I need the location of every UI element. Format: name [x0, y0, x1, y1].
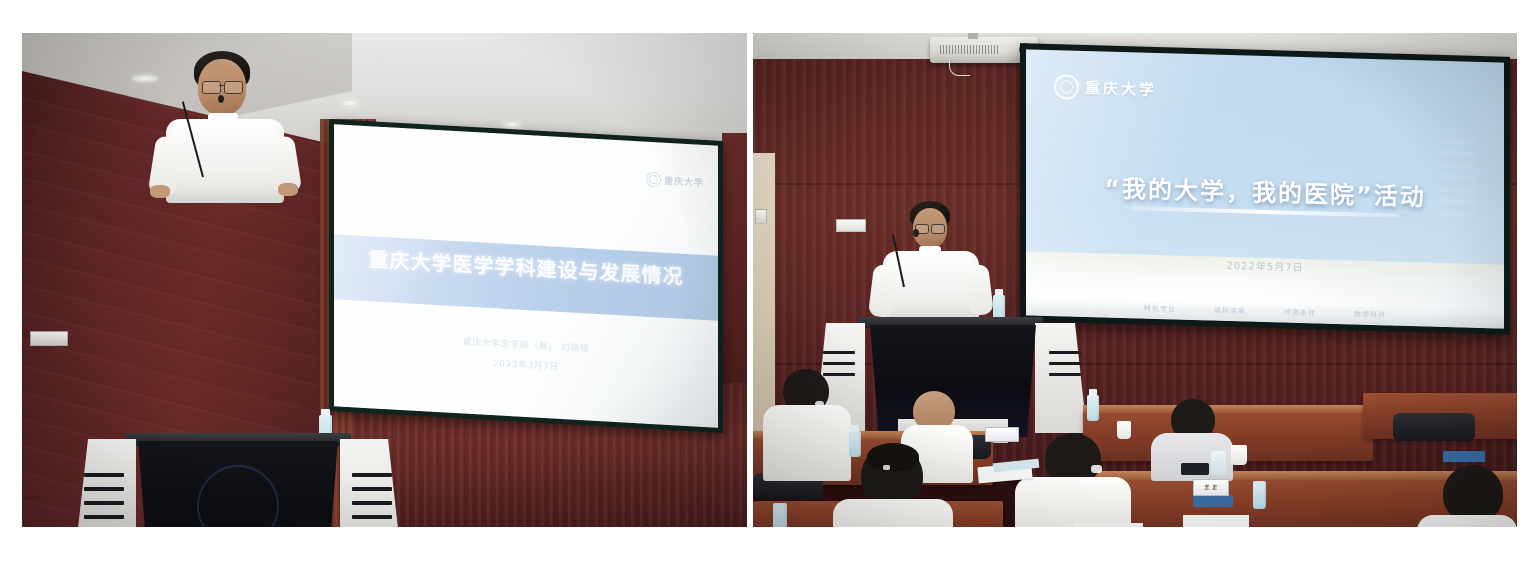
downlight-icon	[132, 75, 158, 82]
bottle-cap	[851, 425, 859, 432]
water-bottle	[1087, 395, 1099, 421]
speaker-hand-right	[278, 183, 298, 196]
wall-sign-plate	[30, 331, 68, 346]
projection-screen-frame: 重庆大学 “我的大学，我的医院”活动 2022年5月7日 特色专业 高标准高 师…	[1020, 43, 1510, 335]
face-mask-icon	[1091, 465, 1102, 473]
photo-left: 重庆大学 重庆大学医学学科建设与发展情况 重庆大学医学院（筹） 刘晓程 2023…	[22, 33, 747, 527]
podium-vent	[84, 473, 124, 477]
university-logo: 重庆大学	[1054, 74, 1157, 102]
slide-footer-item: 教学科研	[1354, 309, 1386, 320]
podium-vent	[352, 501, 392, 505]
eyeglasses-icon	[224, 81, 243, 94]
podium-vent	[352, 515, 392, 519]
slide-footer-item: 师资条件	[1284, 308, 1316, 319]
photo-collage: 重庆大学 重庆大学医学学科建设与发展情况 重庆大学医学院（筹） 刘晓程 2023…	[0, 0, 1539, 570]
podium-vent	[823, 373, 855, 376]
podium-vent	[84, 515, 124, 519]
audience-torso	[833, 499, 953, 527]
wall-switch-plate	[755, 209, 767, 224]
water-bottle	[849, 431, 861, 457]
wall-sign-plate	[836, 219, 866, 232]
university-logo: 重庆大学	[646, 172, 704, 190]
university-name: 重庆大学	[1085, 77, 1157, 100]
name-placard: 王 正	[1193, 479, 1229, 496]
folder	[1443, 451, 1485, 462]
speaker-torso	[166, 119, 284, 203]
podium-vent	[823, 351, 855, 354]
face-mask-icon	[815, 401, 824, 407]
bottle-cap	[995, 289, 1003, 296]
eyeglasses-icon	[202, 81, 221, 94]
photo-right: 重庆大学 “我的大学，我的医院”活动 2022年5月7日 特色专业 高标准高 师…	[753, 33, 1517, 527]
smartphone	[1181, 463, 1209, 475]
slide-footer-item: 特色专业	[1144, 304, 1176, 315]
audience-torso	[1417, 515, 1517, 527]
podium-vent	[823, 362, 855, 365]
eyeglasses-icon	[931, 224, 945, 234]
eyeglasses-bridge	[219, 85, 224, 86]
water-bottle	[773, 503, 787, 527]
slide-title: “我的大学，我的医院”活动	[1026, 166, 1504, 214]
document-paper	[1073, 523, 1143, 527]
paper-cup	[1117, 421, 1131, 439]
university-name: 重庆大学	[664, 174, 704, 189]
name-placard	[985, 427, 1019, 442]
drinking-glass	[1211, 451, 1226, 475]
chongqing-university-seal-icon	[1054, 74, 1079, 100]
podium-vent	[1049, 373, 1081, 376]
downlight-icon	[502, 121, 522, 129]
hair-clip-icon	[883, 465, 890, 470]
wall-seam	[753, 363, 1517, 365]
wood-wall-right-upper	[722, 133, 747, 393]
speaker-hand-left	[150, 185, 170, 198]
podium-vent	[352, 487, 392, 491]
bottle-cap	[1089, 389, 1097, 396]
projection-screen: 重庆大学 “我的大学，我的医院”活动 2022年5月7日 特色专业 高标准高 师…	[1026, 49, 1504, 328]
downlight-icon	[340, 99, 360, 107]
audience-torso	[1015, 477, 1131, 527]
microphone-head-icon	[218, 95, 224, 103]
podium-vent	[1049, 351, 1081, 354]
document-paper	[1183, 515, 1249, 527]
chair-back	[1393, 413, 1475, 441]
audience-hair	[867, 443, 919, 471]
podium-vent	[352, 473, 392, 477]
folder	[1193, 495, 1233, 507]
microphone-head-icon	[913, 229, 919, 237]
paper-cup	[1231, 445, 1247, 465]
projector-grill	[940, 45, 1000, 54]
projector-mount	[968, 33, 978, 39]
water-bottle	[1253, 481, 1266, 509]
chongqing-university-seal-icon	[646, 172, 661, 188]
audience-torso	[763, 405, 851, 481]
podium-vent	[84, 501, 124, 505]
desk-surface	[1083, 405, 1373, 413]
slide-left: 重庆大学 重庆大学医学学科建设与发展情况 重庆大学医学院（筹） 刘晓程 2023…	[334, 124, 718, 427]
projector-cable	[949, 59, 970, 76]
podium-vent	[84, 487, 124, 491]
projection-screen: 重庆大学 重庆大学医学学科建设与发展情况 重庆大学医学院（筹） 刘晓程 2023…	[334, 124, 718, 427]
podium-vent	[1049, 362, 1081, 365]
projection-screen-frame: 重庆大学 重庆大学医学学科建设与发展情况 重庆大学医学院（筹） 刘晓程 2023…	[329, 119, 723, 433]
bottle-cap	[321, 409, 330, 416]
slide-footer-item: 高标准高	[1214, 306, 1246, 317]
